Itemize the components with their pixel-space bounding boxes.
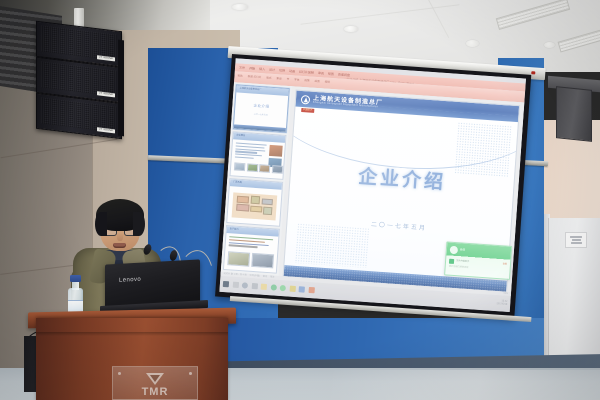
- thumbnail-header-band: 企业概况: [233, 132, 285, 143]
- ribbon-tab-review[interactable]: 审阅: [318, 72, 324, 75]
- ribbon-group-section[interactable]: 节: [286, 79, 289, 82]
- ribbon-group-drawing[interactable]: 绘图: [314, 81, 319, 84]
- slide-dot-pattern-bottom: [295, 223, 370, 268]
- laptop-brand-label: Lenovo: [119, 277, 141, 284]
- thumbnail-header-text: 生产能力: [226, 226, 278, 237]
- thumbnail-header-band: 上海航天设备制造总厂: [236, 85, 288, 96]
- slide-editing-canvas[interactable]: 上海航天设备制造总厂 Shanghai Aerospace Equipment …: [278, 86, 524, 296]
- file-explorer-icon[interactable]: [261, 284, 267, 290]
- thumbnail-header-band: 生产能力: [226, 226, 278, 237]
- wechat-notification-toast[interactable]: 微信 文件传输助手 查看 演示文稿已接收完成: [444, 241, 512, 280]
- ribbon-tab-home[interactable]: 开始: [249, 67, 255, 70]
- powerpoint-icon[interactable]: [308, 287, 314, 293]
- slide-dot-pattern-right: [454, 122, 511, 178]
- ribbon-tab-transitions[interactable]: 切换: [279, 69, 285, 72]
- notes-button[interactable]: 备注: [263, 276, 268, 279]
- presenter-hair-side-right: [133, 212, 145, 236]
- thumbnail-footer-band: [234, 124, 286, 132]
- presenter-hair-side-left: [95, 212, 107, 236]
- speaker-bracket: [118, 40, 124, 137]
- ribbon-group-layout[interactable]: 版式: [266, 77, 271, 80]
- thumbnail-text-lines: [229, 236, 276, 250]
- door-sign-line: [570, 236, 582, 238]
- thumbnail-header-band: 厂区布局: [230, 179, 282, 190]
- toast-line-1: 文件传输助手: [456, 261, 469, 264]
- bottle-cap: [70, 275, 81, 282]
- floor-reflection: [330, 370, 600, 400]
- plaque-screw: [118, 372, 121, 375]
- file-icon: [449, 259, 454, 264]
- ribbon-group-editing[interactable]: 编辑: [325, 82, 330, 85]
- plaque-text: TMR: [113, 386, 197, 398]
- ribbon-tab-file[interactable]: 文件: [239, 66, 245, 69]
- podium-bevel: [36, 332, 228, 336]
- door-sign-line: [571, 242, 582, 244]
- qq-icon[interactable]: [289, 286, 295, 292]
- clock-date: 2017/5/18: [496, 303, 507, 307]
- ribbon-group-paste[interactable]: 粘贴: [237, 75, 242, 78]
- ribbon-tab-design[interactable]: 设计: [269, 68, 275, 71]
- toast-avatar-icon: [450, 246, 459, 255]
- ribbon-group-new-slide[interactable]: 新建 幻灯片: [247, 76, 261, 80]
- toast-action-button[interactable]: 查看: [502, 264, 507, 267]
- smoke-detector-icon: [466, 40, 479, 47]
- screen-indicator-led: [531, 71, 535, 74]
- ribbon-tab-animations[interactable]: 动画: [289, 70, 295, 73]
- cortana-icon[interactable]: [242, 282, 248, 288]
- smoke-detector-icon: [544, 42, 555, 48]
- ribbon-group-reset[interactable]: 重设: [276, 78, 281, 81]
- slide-thumbnail-1[interactable]: 上海航天设备制造总厂 企业介绍 二〇一七年五月: [233, 84, 290, 133]
- thumbnail-header-text: 厂区布局: [230, 179, 282, 190]
- plaque-screw: [189, 372, 192, 375]
- triangle-emblem-icon: [146, 373, 164, 385]
- ribbon-group-font[interactable]: 字体: [294, 79, 299, 82]
- downlight-icon: [232, 4, 248, 10]
- thumbnail-photo-strip: [227, 251, 273, 268]
- slide-thumbnail-3[interactable]: 厂区布局: [226, 178, 283, 227]
- door-sign: [565, 232, 587, 248]
- ribbon-tab-slideshow[interactable]: 幻灯片放映: [299, 70, 314, 74]
- search-icon[interactable]: [232, 282, 238, 288]
- toast-app-title: 微信: [460, 249, 465, 252]
- powerpoint-workspace: 上海航天设备制造总厂 企业介绍 二〇一七年五月 企业概况: [221, 82, 525, 296]
- ribbon-group-paragraph[interactable]: 段落: [304, 80, 309, 83]
- conference-room-photo: ZY SOUND ZY SOUND ZY SOUND 文件 开始 插: [0, 0, 600, 400]
- thumbnail-subtitle: 二〇一七年五月: [235, 111, 287, 118]
- task-view-icon[interactable]: [251, 283, 257, 289]
- thumbnail-photo: [269, 145, 283, 157]
- door-sign-line: [572, 239, 581, 241]
- comments-button[interactable]: 批注: [270, 276, 275, 279]
- thumbnail-header-text: 上海航天设备制造总厂: [236, 85, 288, 96]
- start-icon[interactable]: [223, 281, 229, 287]
- thumbnail-site-diagram: [232, 192, 278, 220]
- browser-icon[interactable]: [270, 284, 276, 290]
- downlight-icon: [344, 26, 358, 32]
- podium-logo-plaque: TMR: [112, 366, 198, 400]
- ribbon-tab-view[interactable]: 视图: [328, 72, 334, 75]
- projection-screen-surface: 文件 开始 插入 设计 切换 动画 幻灯片放映 审阅 视图 百度网盘 企业介绍-…: [219, 58, 526, 312]
- projection-screen: 文件 开始 插入 设计 切换 动画 幻灯片放映 审阅 视图 百度网盘 企业介绍-…: [215, 54, 531, 317]
- thumbnail-text-lines: [235, 142, 267, 161]
- taskbar-clock[interactable]: 15:42 2017/5/18: [496, 300, 507, 306]
- slide-thumbnail-4[interactable]: 生产能力: [223, 225, 280, 274]
- wechat-icon[interactable]: [280, 285, 286, 291]
- right-wall-speaker: [556, 86, 592, 142]
- thumbnail-header-text: 企业概况: [233, 132, 285, 143]
- zoom-level[interactable]: 66%: [503, 292, 508, 295]
- presenter-mouth: [113, 243, 126, 248]
- ribbon-tab-insert[interactable]: 插入: [259, 67, 265, 70]
- thumbnail-title: 企业介绍: [235, 102, 287, 111]
- slide-thumbnail-2[interactable]: 企业概况: [229, 131, 286, 180]
- word-icon[interactable]: [299, 286, 305, 292]
